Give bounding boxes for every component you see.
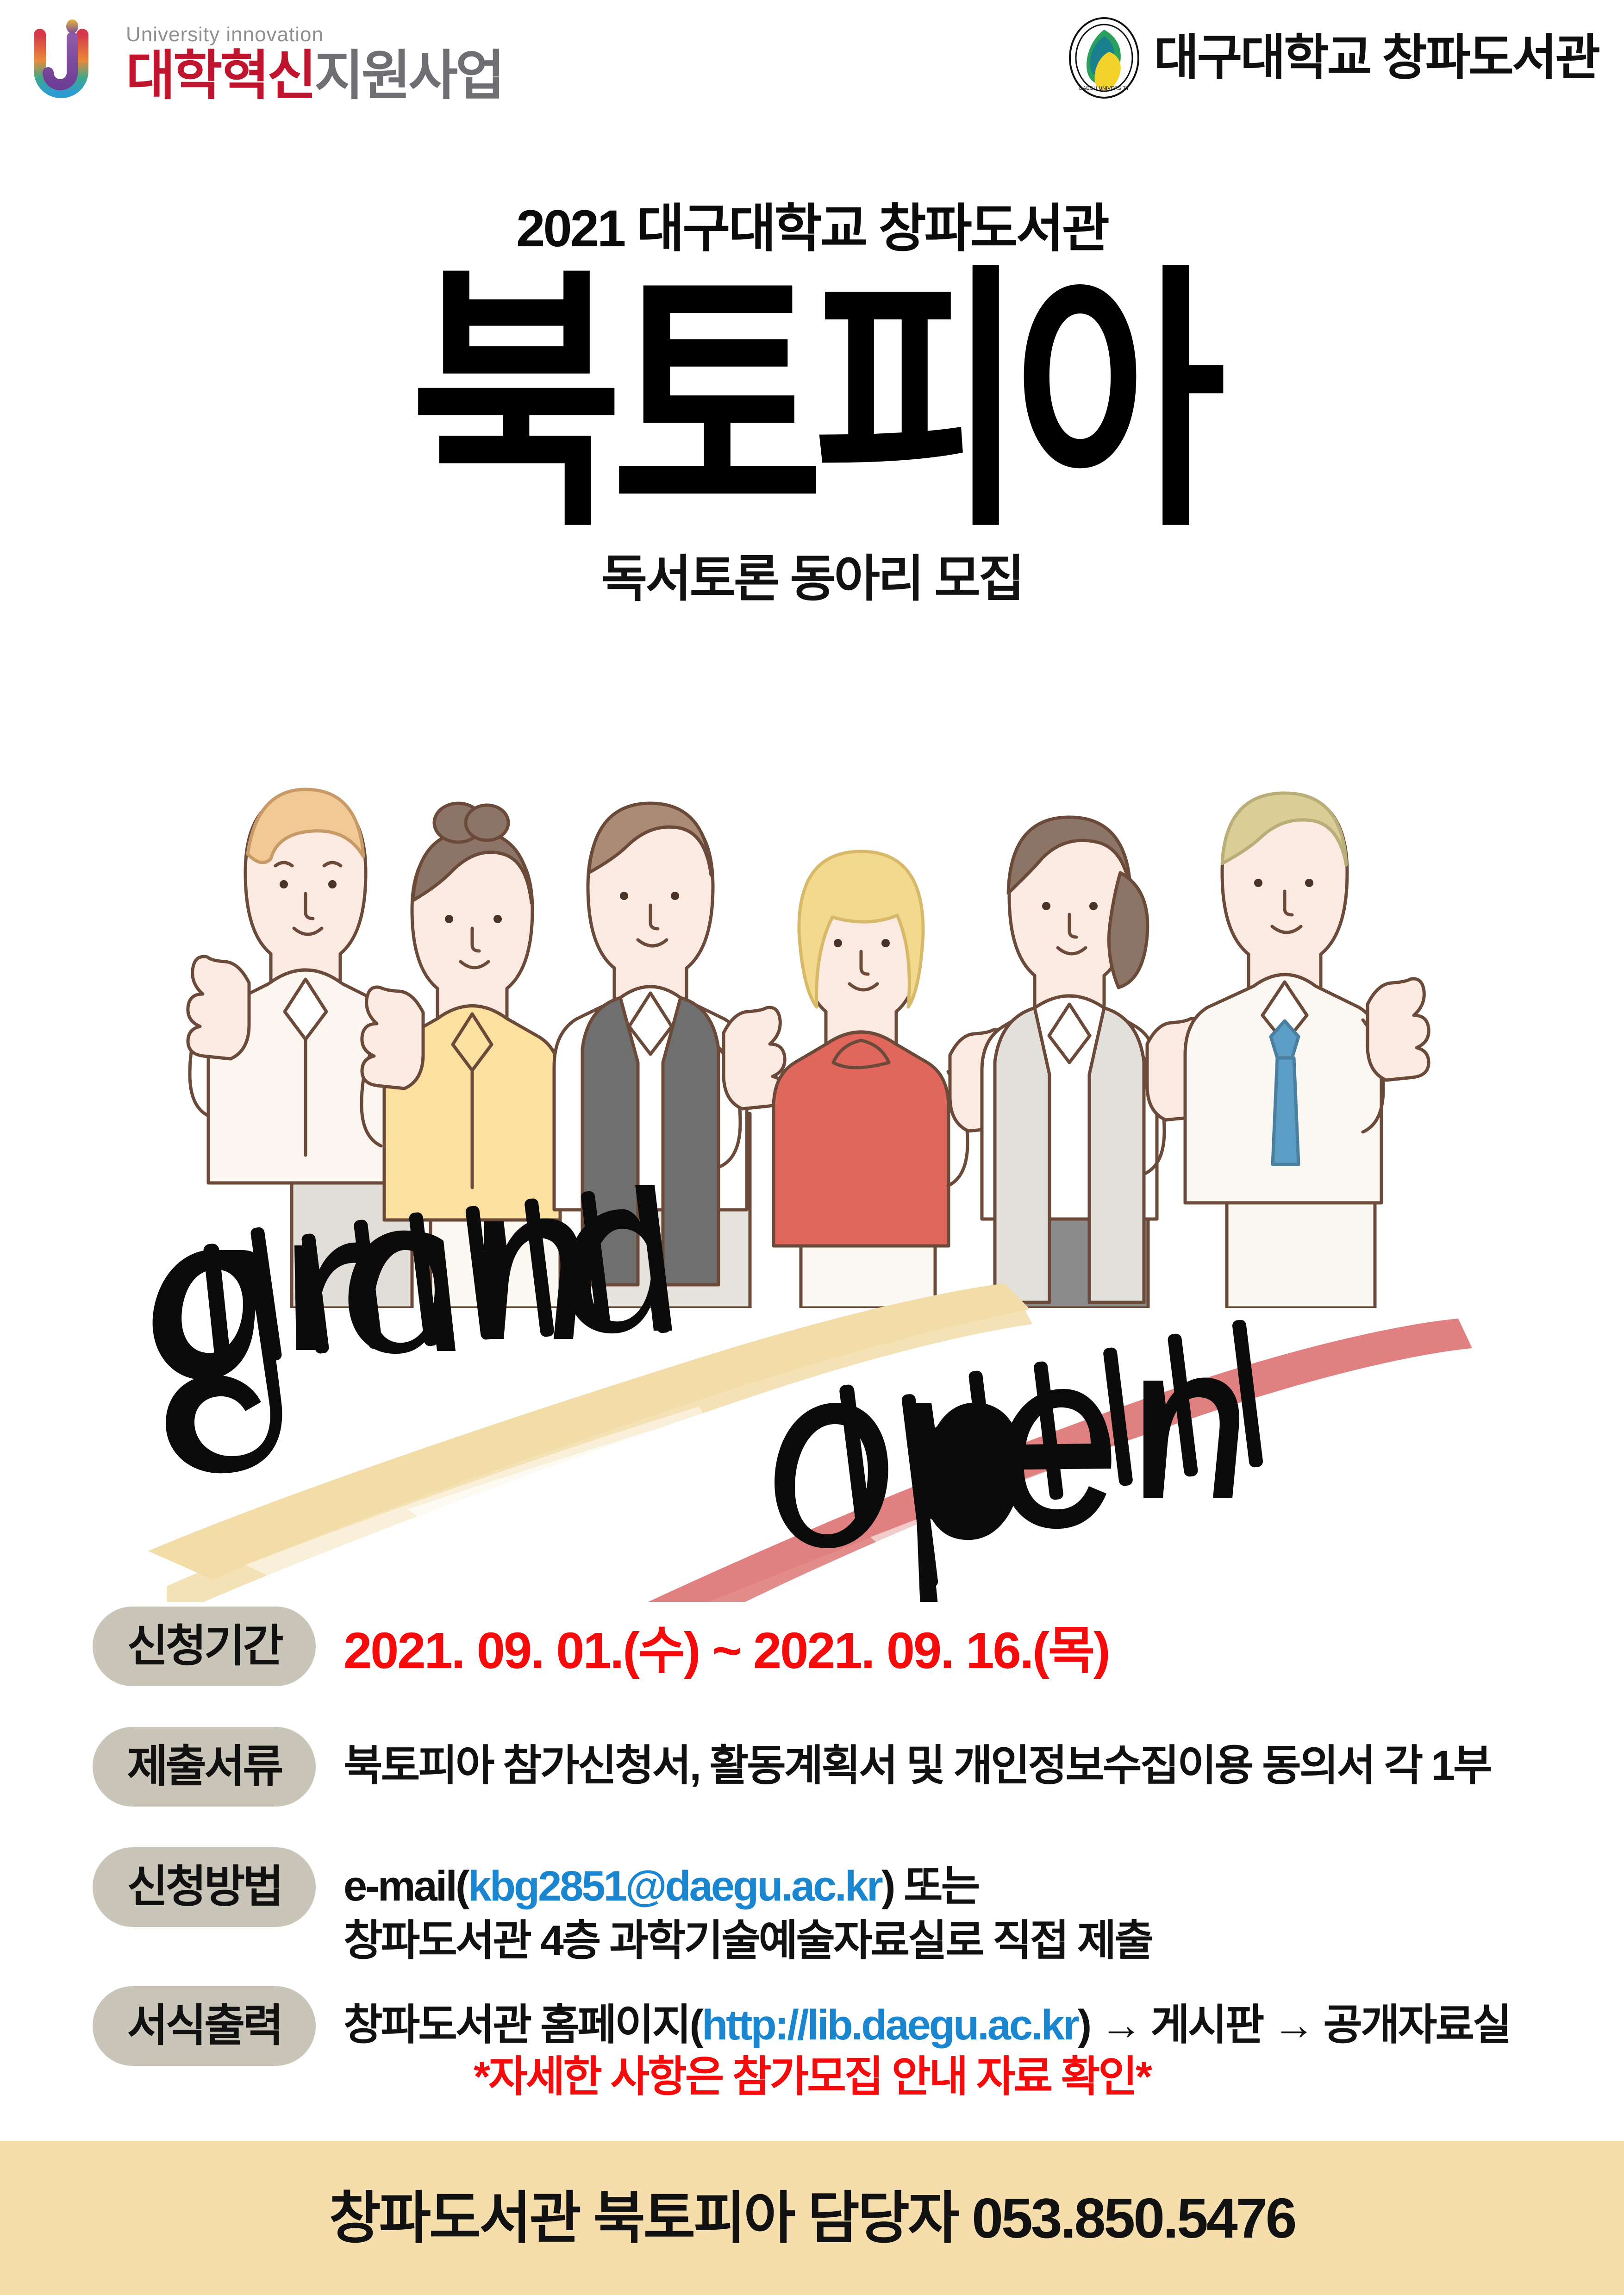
email-suffix: ) 또는 <box>881 1863 978 1910</box>
url-suffix: ) → 게시판 → 공개자료실 <box>1078 2001 1510 2049</box>
pill-form-download: 서식출력 <box>93 1986 316 2066</box>
footer-contact-text: 창파도서관 북토피아 담당자 053.850.5476 <box>329 2190 1295 2246</box>
pill-required-documents: 제출서류 <box>93 1727 316 1807</box>
library-logo-title: 대구대학교 창파도서관 <box>1154 33 1599 82</box>
ui-logo-korean-gray: 지원사업 <box>314 45 503 106</box>
application-method-email-line: e-mail(kbg2851@daegu.ac.kr) 또는 <box>344 1859 1624 1914</box>
info-row-application-period: 신청기간 2021. 09. 01.(수) ~ 2021. 09. 16.(목) <box>0 1607 1624 1686</box>
pill-application-period: 신청기간 <box>93 1607 316 1686</box>
value-form-download: 창파도서관 홈페이지(http://lib.daegu.ac.kr) → 게시판… <box>316 1986 1624 2053</box>
email-prefix: e-mail( <box>344 1863 468 1910</box>
poster-canvas: University innovation 대학혁신지원사업 DAEGU UNI… <box>0 0 1624 2295</box>
info-row-application-method: 신청방법 e-mail(kbg2851@daegu.ac.kr) 또는 창파도서… <box>0 1847 1624 1969</box>
university-seal-icon: DAEGU UNIVERSITY <box>1065 16 1143 100</box>
daegu-university-library-logo: DAEGU UNIVERSITY 대구대학교 창파도서관 <box>1065 14 1599 102</box>
library-website-link[interactable]: http://lib.daegu.ac.kr <box>702 2001 1078 2049</box>
ui-logo-korean: 대학혁신지원사업 <box>126 49 503 102</box>
value-application-period: 2021. 09. 01.(수) ~ 2021. 09. 16.(목) <box>316 1607 1624 1684</box>
application-method-inperson-line: 창파도서관 4층 과학기술예술자료실로 직접 제출 <box>344 1914 1624 1969</box>
pill-application-method: 신청방법 <box>93 1847 316 1927</box>
poster-subtitle: 독서토론 동아리 모집 <box>0 554 1624 604</box>
value-required-documents: 북토피아 참가신청서, 활동계획서 및 개인정보수집이용 동의서 각 1부 <box>316 1727 1624 1794</box>
pill-label: 제출서류 <box>127 1745 281 1789</box>
brush-strokes-decoration <box>130 1185 1500 1602</box>
ui-logo-text: University innovation 대학혁신지원사업 <box>126 25 503 102</box>
detail-notice: *자세한 사항은 참가모집 안내 자료 확인* <box>0 2056 1624 2098</box>
value-application-method: e-mail(kbg2851@daegu.ac.kr) 또는 창파도서관 4층 … <box>316 1847 1624 1969</box>
required-documents-text: 북토피아 참가신청서, 활동계획서 및 개인정보수집이용 동의서 각 1부 <box>344 1739 1624 1794</box>
pill-label: 신청기간 <box>127 1624 281 1669</box>
footer-contact-bar: 창파도서관 북토피아 담당자 053.850.5476 <box>0 2141 1624 2295</box>
form-download-line: 창파도서관 홈페이지(http://lib.daegu.ac.kr) → 게시판… <box>344 1998 1624 2053</box>
page-title: 북토피아 <box>0 264 1624 542</box>
ui-logo-korean-red: 대학혁신 <box>126 45 314 106</box>
ui-logo-mark-icon <box>28 17 120 110</box>
application-period-text: 2021. 09. 01.(수) ~ 2021. 09. 16.(목) <box>344 1619 1624 1684</box>
pill-label: 서식출력 <box>127 2004 281 2048</box>
url-prefix: 창파도서관 홈페이지( <box>344 2001 702 2049</box>
svg-text:DAEGU UNIVERSITY: DAEGU UNIVERSITY <box>1079 86 1130 91</box>
info-row-required-documents: 제출서류 북토피아 참가신청서, 활동계획서 및 개인정보수집이용 동의서 각 … <box>0 1727 1624 1807</box>
pill-label: 신청방법 <box>127 1865 281 1909</box>
university-innovation-logo: University innovation 대학혁신지원사업 <box>28 10 518 117</box>
email-link[interactable]: kbg2851@daegu.ac.kr <box>468 1863 881 1910</box>
ui-logo-english: University innovation <box>126 25 503 45</box>
